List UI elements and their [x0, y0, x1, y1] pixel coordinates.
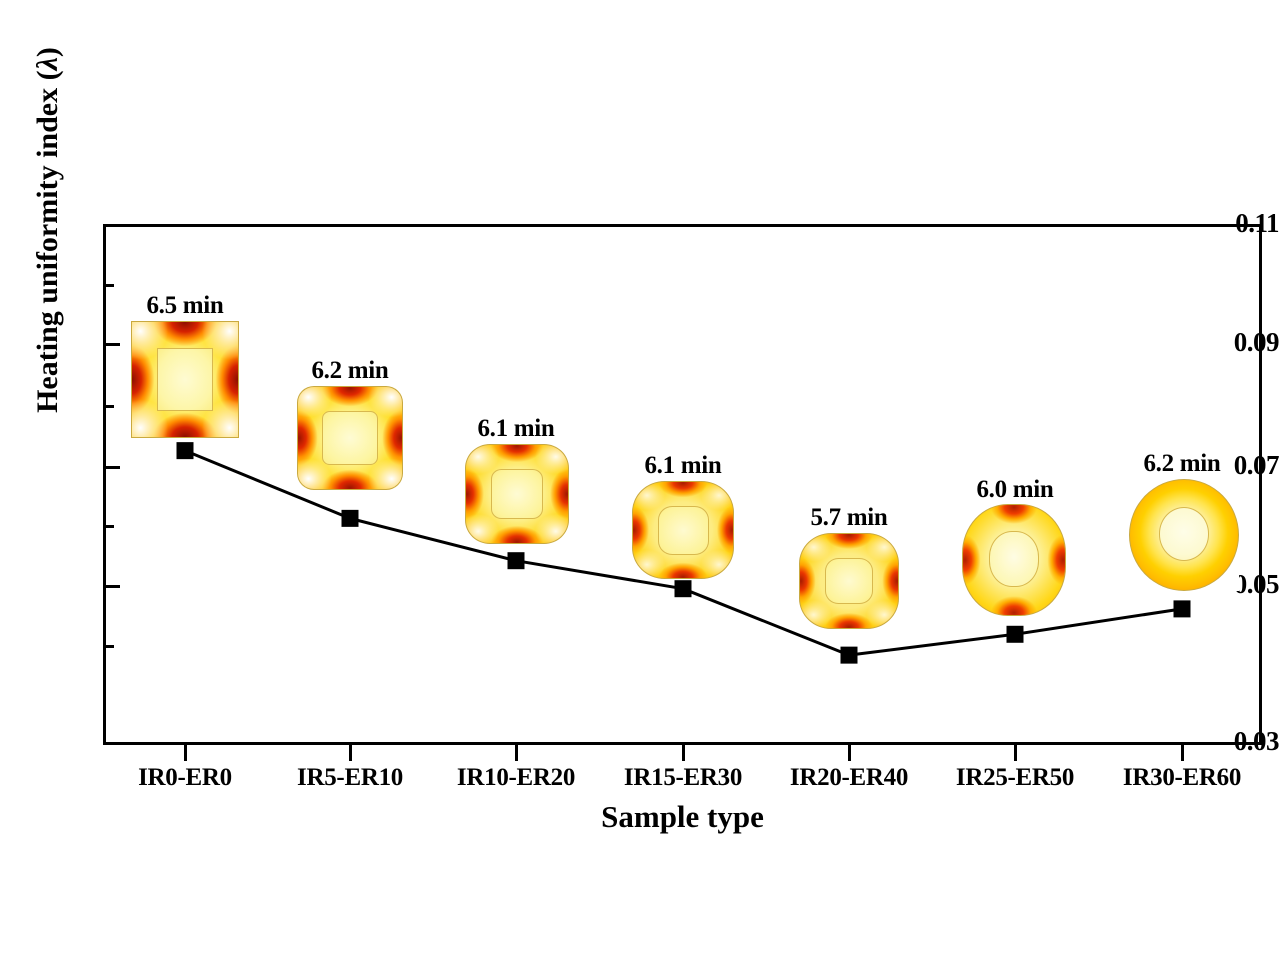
time-annotation-6: 6.0 min: [976, 476, 1053, 504]
thermal-core-region: [1159, 507, 1210, 561]
x-tick-label: IR15-ER30: [624, 764, 742, 792]
y-tick-minor: [103, 525, 114, 528]
figure-canvas: 0.11 0.09 0.07 0.05 0.03 IR0-ER0 IR5-ER1…: [0, 0, 1279, 960]
y-axis-title: Heating uniformity index (λ): [31, 0, 65, 500]
y-tick-major: [103, 466, 120, 469]
time-annotation-2: 6.2 min: [311, 357, 388, 385]
x-tick: [682, 745, 685, 761]
x-axis-title: Sample type: [103, 799, 1262, 835]
time-annotation-4: 6.1 min: [644, 452, 721, 480]
y-tick-label: 0.09: [1187, 329, 1279, 356]
x-tick-label: IR10-ER20: [457, 764, 575, 792]
time-annotation-7: 6.2 min: [1143, 450, 1220, 478]
y-tick-major: [103, 343, 120, 346]
thermal-core-region: [157, 348, 213, 411]
thermal-core-region: [989, 531, 1039, 587]
x-tick: [1181, 745, 1184, 761]
x-tick: [515, 745, 518, 761]
x-tick: [349, 745, 352, 761]
y-tick-minor: [103, 405, 114, 408]
x-tick: [848, 745, 851, 761]
y-tick-major: [103, 224, 120, 227]
x-tick: [184, 745, 187, 761]
x-tick-label: IR20-ER40: [790, 764, 908, 792]
x-tick-label: IR0-ER0: [138, 764, 232, 792]
thermal-image-sample-1: [131, 321, 239, 438]
thermal-image-sample-4: [632, 481, 734, 579]
x-tick: [1014, 745, 1017, 761]
thermal-image-sample-2: [297, 386, 403, 490]
time-annotation-3: 6.1 min: [477, 415, 554, 443]
y-tick-minor: [103, 284, 114, 287]
x-tick-label: IR30-ER60: [1123, 764, 1241, 792]
thermal-core-region: [658, 506, 709, 555]
lambda-symbol: λ: [31, 57, 64, 70]
x-tick-label: IR25-ER50: [956, 764, 1074, 792]
y-tick-label: 0.03: [1187, 728, 1279, 755]
thermal-image-sample-3: [465, 444, 569, 544]
time-annotation-5: 5.7 min: [810, 504, 887, 532]
thermal-core-region: [322, 411, 377, 465]
thermal-core-region: [491, 469, 543, 519]
x-tick-label: IR5-ER10: [297, 764, 403, 792]
thermal-image-sample-6: [962, 504, 1066, 616]
thermal-core-region: [825, 558, 873, 604]
y-axis-title-suffix: ): [31, 47, 64, 57]
y-tick-major: [103, 585, 120, 588]
y-tick-minor: [103, 645, 114, 648]
thermal-image-sample-5: [799, 533, 899, 629]
thermal-image-sample-7: [1129, 479, 1239, 591]
y-tick-label: 0.11: [1187, 210, 1279, 237]
y-tick-major: [103, 742, 120, 745]
time-annotation-1: 6.5 min: [146, 292, 223, 320]
y-axis-title-text: Heating uniformity index (: [31, 70, 64, 413]
